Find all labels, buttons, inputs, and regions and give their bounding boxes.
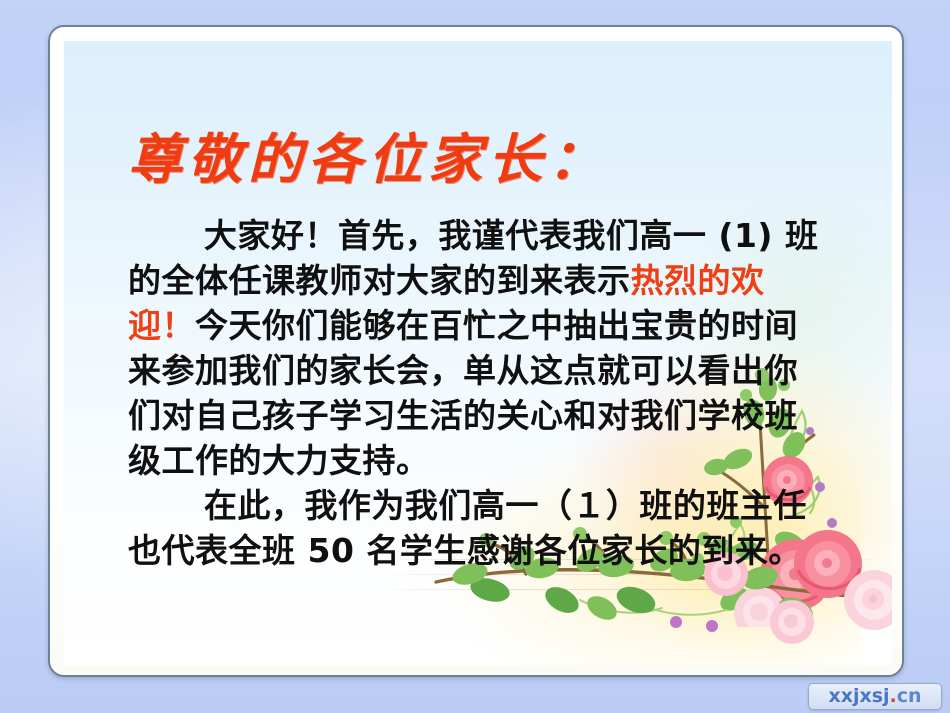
watermark-name: xxjxsj xyxy=(828,685,889,707)
slide-title: 尊敬的各位家长： xyxy=(128,115,608,194)
rose-right-small xyxy=(770,600,814,644)
rose-pale xyxy=(734,587,786,627)
watermark-badge: xxjxsj.cn xyxy=(808,683,942,710)
body-paragraph: 大家好！首先，我谨代表我们高一 (1) 班的全体任课教师对大家的到来表示热烈的欢… xyxy=(128,213,828,483)
watermark-tld: cn xyxy=(897,685,922,707)
watermark-dot: . xyxy=(890,685,897,707)
watermark-text: xxjxsj.cn xyxy=(828,687,921,706)
body-text-run: 在此，我作为我们高一（１）班的班主任也代表全班 50 名学生感谢各位家长的到来。 xyxy=(128,486,807,570)
slide-frame: 尊敬的各位家长： 大家好！首先，我谨代表我们高一 (1) 班的全体任课教师对大家… xyxy=(48,25,904,677)
body-paragraph: 在此，我作为我们高一（１）班的班主任也代表全班 50 名学生感谢各位家长的到来。 xyxy=(128,483,828,573)
body-text-run: 今天你们能够在百忙之中抽出宝贵的时间来参加我们的家长会，单从这点就可以看出你们对… xyxy=(128,306,798,480)
presentation-slide: 尊敬的各位家长： 大家好！首先，我谨代表我们高一 (1) 班的全体任课教师对大家… xyxy=(0,0,950,713)
slide-body-text: 大家好！首先，我谨代表我们高一 (1) 班的全体任课教师对大家的到来表示热烈的欢… xyxy=(128,213,828,573)
slide-content-panel: 尊敬的各位家长： 大家好！首先，我谨代表我们高一 (1) 班的全体任课教师对大家… xyxy=(64,41,892,665)
